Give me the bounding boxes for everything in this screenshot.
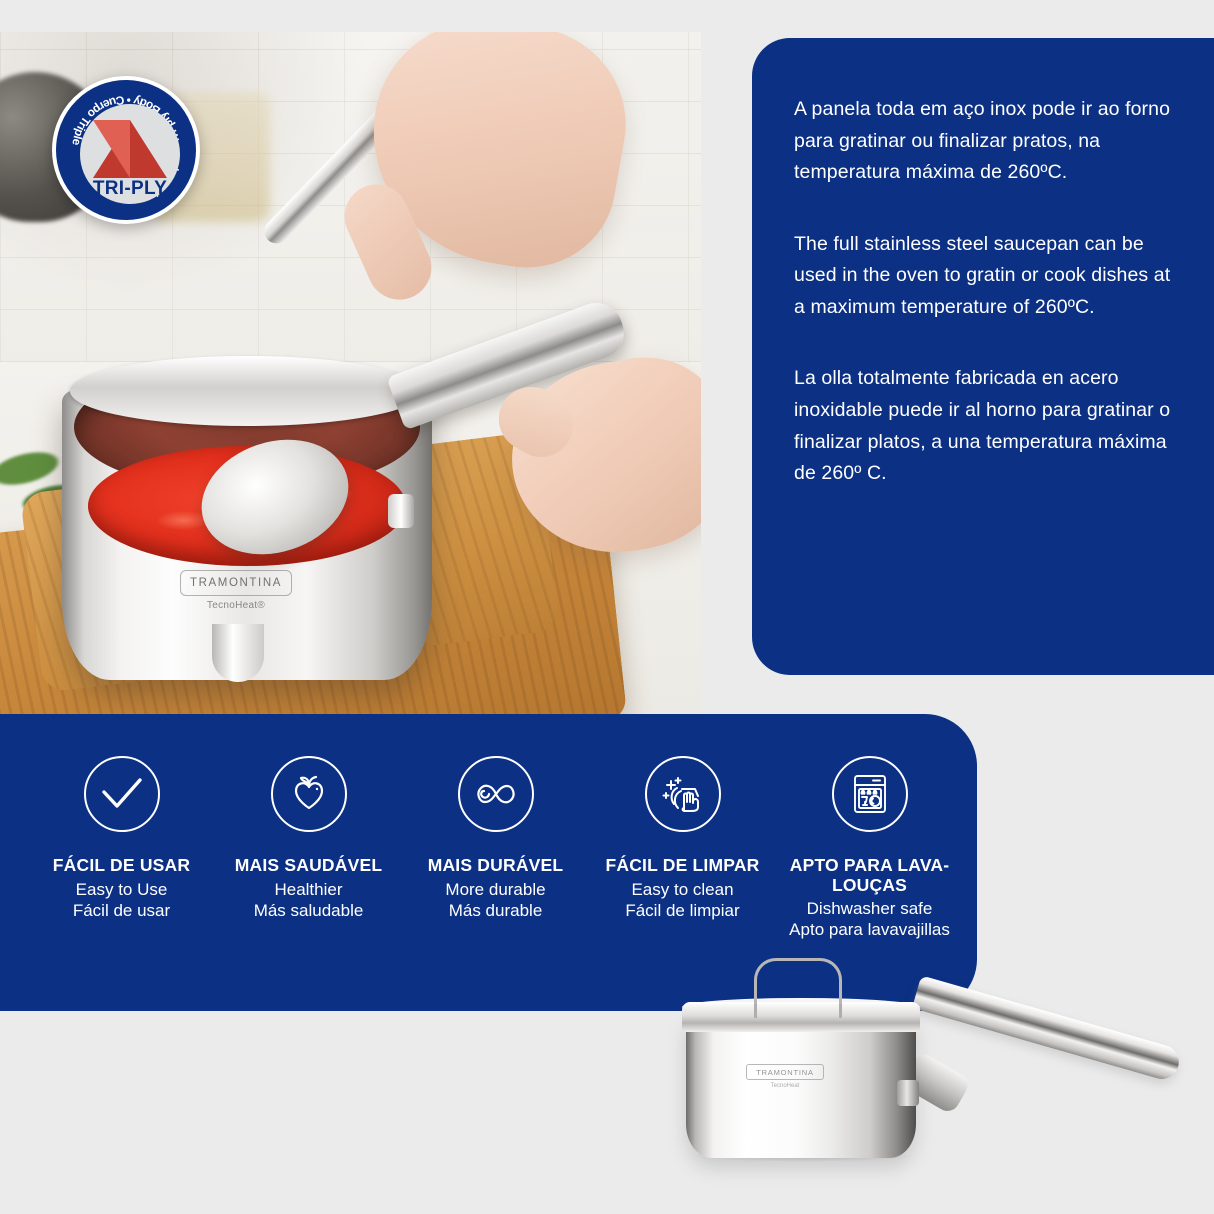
feature-subtitle-es: Más saludable [254,900,364,921]
feature-subtitle-en: More durable [445,879,545,900]
pan-subbrand-label: TecnoHeat® [180,600,292,611]
pyramid-left-face-icon [93,120,130,178]
feature-title: FÁCIL DE USAR [53,856,190,876]
feature-easy-to-clean: FÁCIL DE LIMPAR Easy to clean Fácil de l… [589,756,776,921]
product-handle [912,975,1183,1083]
pan-handle-weld [212,624,264,682]
feature-title: APTO PARA LAVA-LOUÇAS [780,856,959,895]
description-panel: A panela toda em aço inox pode ir ao for… [752,38,1214,675]
saucepan-rim [70,356,424,426]
feature-dishwasher-safe: APTO PARA LAVA-LOUÇAS Dishwasher safe Ap… [776,756,963,941]
feature-more-durable: MAIS DURÁVEL More durable Más durable [402,756,589,921]
dishwasher-icon [832,756,908,832]
product-saucepan: TRAMONTINA TecnoHeat [664,952,1204,1182]
product-brand-badge: TRAMONTINA [746,1064,824,1080]
feature-title: MAIS DURÁVEL [428,856,564,876]
apple-heart-icon [271,756,347,832]
feature-subtitle-en: Easy to Use [76,879,168,900]
feature-easy-to-use: FÁCIL DE USAR Easy to Use Fácil de usar [28,756,215,921]
cleaning-hand-icon [645,756,721,832]
product-subbrand-label: TecnoHeat [746,1083,824,1089]
feature-subtitle-es: Fácil de limpiar [625,900,739,921]
description-portuguese: A panela toda em aço inox pode ir ao for… [794,94,1180,189]
check-icon [84,756,160,832]
tri-ply-badge: Corpo Triplo • Tri-ply Body • Cuerpo Tri… [52,76,200,224]
description-spanish: La olla totalmente fabricada en acero in… [794,363,1180,489]
product-lid-wire-right [839,1004,842,1018]
handle-rivet [388,494,414,528]
feature-subtitle-es: Fácil de usar [73,900,170,921]
tri-ply-inner-circle: TRI-PLY [80,104,180,204]
feature-title: MAIS SAUDÁVEL [235,856,382,876]
feature-subtitle-es: Más durable [449,900,543,921]
tri-ply-label: TRI-PLY [80,178,180,200]
feature-subtitle-en: Easy to clean [631,879,733,900]
feature-healthier: MAIS SAUDÁVEL Healthier Más saludable [215,756,402,921]
feature-title: FÁCIL DE LIMPAR [605,856,759,876]
product-lid-wire-handle [754,958,842,1010]
product-lid-wire-left [754,1004,757,1018]
pan-brand-badge: TRAMONTINA [180,570,292,596]
infinity-icon [458,756,534,832]
feature-subtitle-en: Dishwasher safe [807,898,933,919]
description-english: The full stainless steel saucepan can be… [794,229,1180,324]
product-handle-rivet [897,1080,919,1106]
feature-subtitle-es: Apto para lavavajillas [789,919,950,940]
feature-subtitle-en: Healthier [274,879,342,900]
